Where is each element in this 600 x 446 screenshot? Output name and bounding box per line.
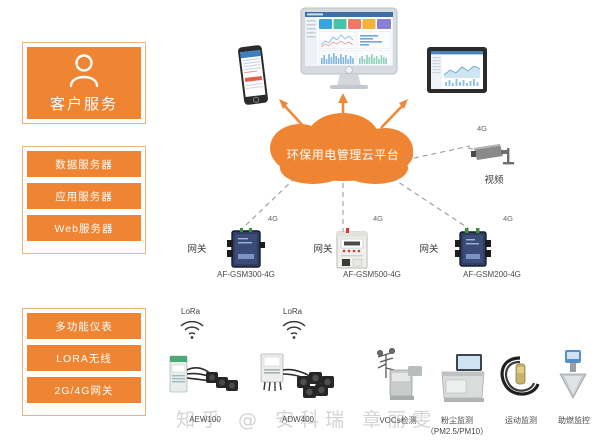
desktop-monitor[interactable] [296, 6, 402, 97]
gateway-2-model: AF-GSM500-4G [322, 270, 422, 279]
product-adw400-label: ADW400 [253, 415, 343, 424]
product-aew100-image [166, 352, 242, 405]
product-vocs-image [372, 348, 426, 409]
camera-label: 视频 [470, 172, 518, 186]
gateway-3-model: AF-GSM200-4G [442, 270, 542, 279]
server-group-panel: 数据服务器 应用服务器 Web服务器 [22, 146, 146, 254]
lora-label-2: LoRa [283, 307, 302, 316]
device-item-2g4g-gateway[interactable]: 2G/4G网关 [27, 377, 141, 403]
product-motion-image [494, 352, 546, 407]
gateway-1-device [225, 228, 269, 275]
gateway-3-device [452, 228, 494, 275]
product-dust-sublabel: （PM2.5/PM10） [418, 426, 496, 437]
product-dust-image [432, 352, 490, 409]
server-item-web[interactable]: Web服务器 [27, 215, 141, 241]
lora-label-1: LoRa [181, 307, 200, 316]
smartphone[interactable] [236, 44, 270, 111]
cloud-platform: 环保用电管理云平台 [268, 118, 418, 190]
server-item-application[interactable]: 应用服务器 [27, 183, 141, 209]
tablet[interactable] [425, 45, 489, 104]
cloud-label: 环保用电管理云平台 [268, 118, 418, 190]
lora-signal-icon-2 [280, 318, 308, 345]
gateway-1-role: 网关 [180, 241, 214, 255]
gateway-1-model: AF-GSM300-4G [196, 270, 296, 279]
device-item-multifunction-meter[interactable]: 多功能仪表 [27, 313, 141, 339]
gateway-3-role: 网关 [412, 241, 446, 255]
customer-service-label: 客户服务 [50, 93, 118, 114]
diagram-canvas: 环保用电管理云平台 客户服务 数据服务器 应用服务器 Web服务器 多功能仪表 … [0, 0, 600, 446]
product-level-sensor-image [552, 348, 594, 407]
product-aew100-label: AEW100 [160, 415, 250, 424]
gateway-3-link-label: 4G [503, 214, 513, 223]
device-group-panel: 多功能仪表 LORA无线 2G/4G网关 [22, 308, 146, 416]
product-level-sensor-label: 助燃监控 [535, 415, 600, 426]
gateway-2-device [332, 228, 372, 275]
camera-link-label: 4G [477, 124, 487, 133]
lora-signal-icon-1 [178, 318, 206, 345]
customer-service-card[interactable]: 客户服务 [27, 47, 141, 119]
server-item-data[interactable]: 数据服务器 [27, 151, 141, 177]
customer-service-panel[interactable]: 客户服务 [22, 42, 146, 124]
gateway-2-link-label: 4G [373, 214, 383, 223]
gateway-1-link-label: 4G [268, 214, 278, 223]
user-icon [67, 53, 101, 89]
device-item-lora-wireless[interactable]: LORA无线 [27, 345, 141, 371]
product-adw400-image [255, 350, 341, 407]
